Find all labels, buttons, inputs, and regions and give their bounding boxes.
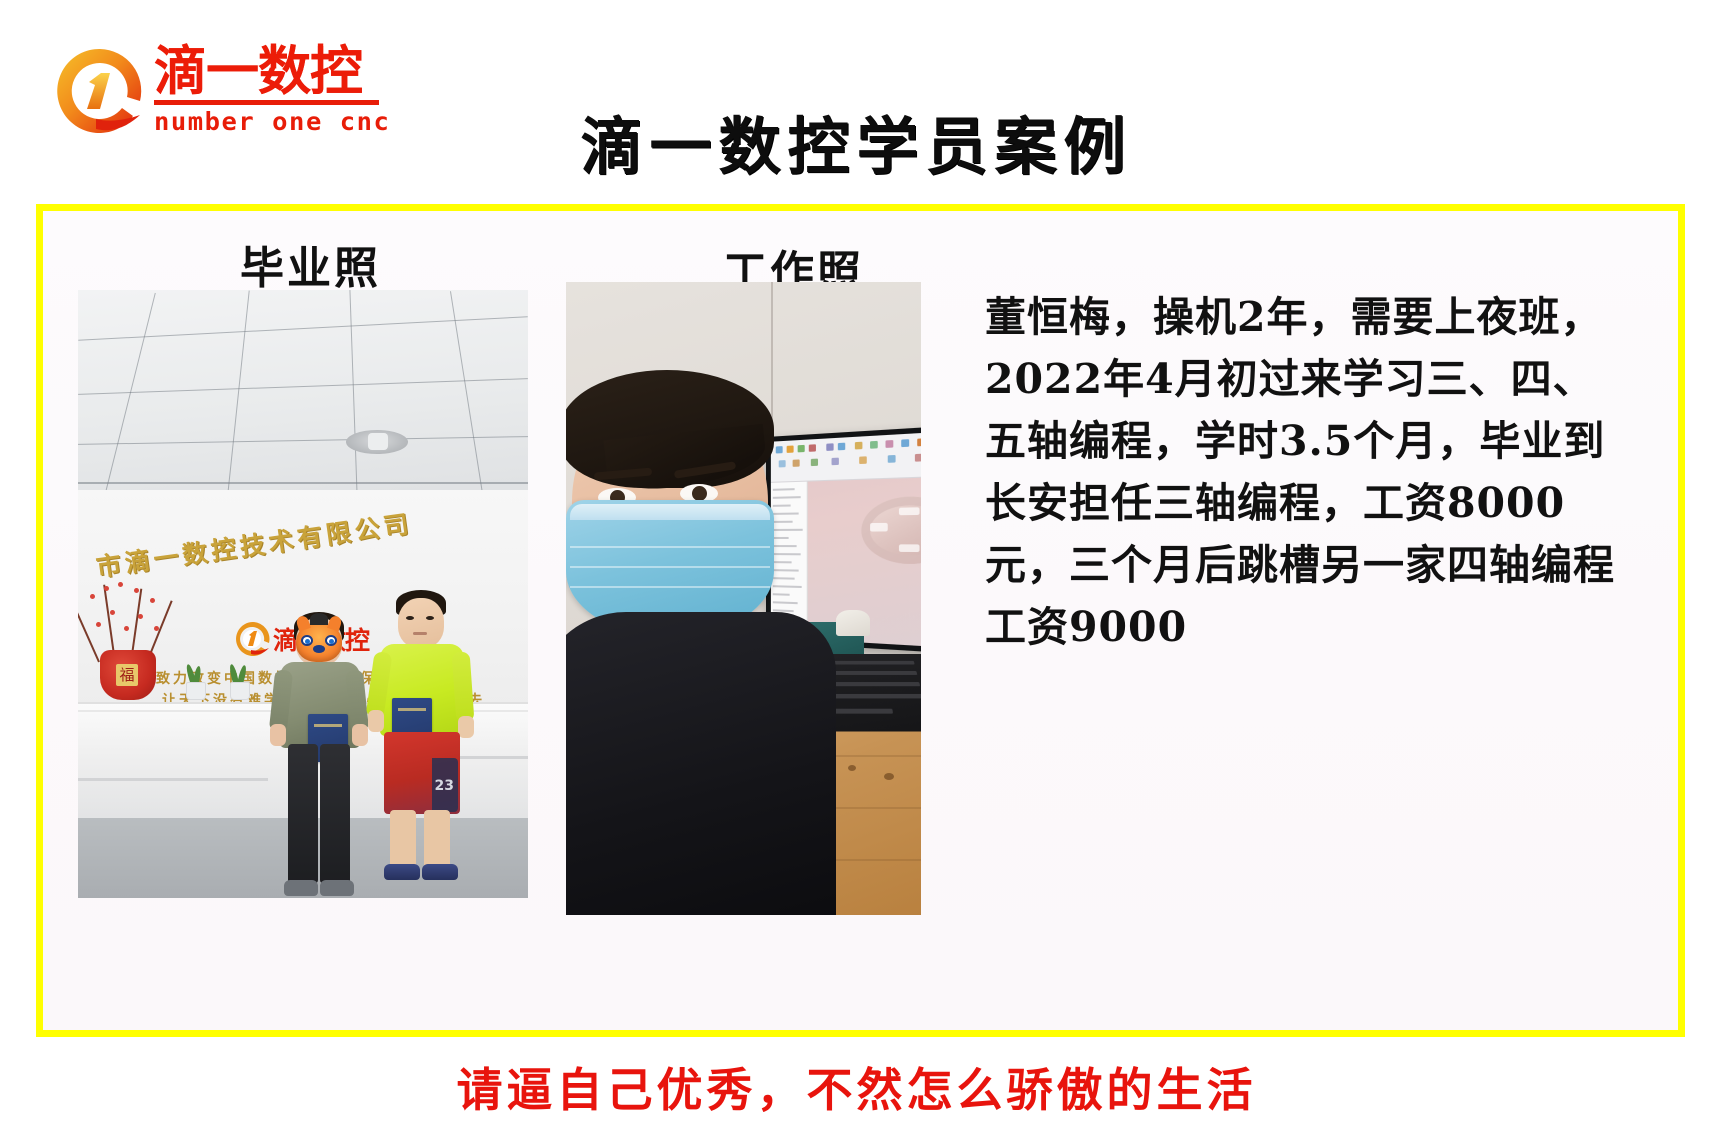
page-header: 滴一数控 number one cnc 滴一数控学员案例 — [0, 0, 1713, 200]
3d-part-model — [861, 495, 921, 564]
graduate-person-right: 23 — [366, 590, 476, 898]
student-testimonial-text: 董恒梅，操机2年，需要上夜班，2022年4月初过来学习三、四、五轴编程，学时3.… — [985, 286, 1635, 658]
graduate-person-left — [264, 612, 372, 898]
motivational-slogan: 请逼自己优秀，不然怎么骄傲的生活 — [0, 1054, 1713, 1120]
photo-subject — [566, 282, 786, 915]
red-vase — [100, 650, 156, 700]
work-photo — [566, 282, 921, 915]
graduation-photo-caption: 毕业照 — [240, 232, 381, 296]
potted-plant-1 — [182, 664, 208, 700]
ceiling-downlight-icon — [346, 430, 408, 454]
brand-name-cn: 滴一数控 — [154, 46, 386, 98]
page-title: 滴一数控学员案例 — [0, 96, 1713, 186]
graduation-photo: 市滴一数控技术有限公司 滴一数控 致力改变中国数控行业技术保守现象 让天下没有难… — [78, 290, 528, 898]
software-ribbon-toolbar — [771, 431, 921, 482]
ceiling — [78, 290, 528, 495]
red-shorts: 23 — [384, 732, 460, 814]
cartoon-face-mask-sticker — [296, 622, 342, 662]
black-shirt — [566, 612, 836, 915]
potted-plant-2 — [226, 664, 252, 700]
